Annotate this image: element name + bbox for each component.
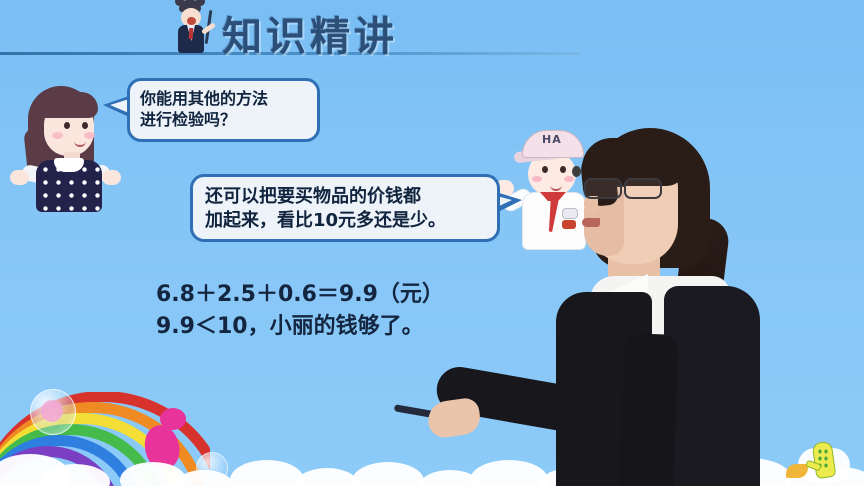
math-line-sum: 6.8＋2.5＋0.6＝9.9（元） [156,276,444,308]
speech-bubble-boy: 还可以把要买物品的价钱都 加起来，看比10元多还是少。 [190,174,500,242]
teacher-figure [556,126,864,486]
girl-eye-left [64,122,70,129]
professor-mascot-icon [163,0,221,56]
girl-blush-right [84,132,95,139]
girl-blush-left [52,132,63,139]
cloud [296,468,358,486]
cloud [230,460,304,486]
teacher-glasses-icon [584,178,662,196]
teacher-cardigan-right [664,286,760,486]
boy-blush-left [532,176,542,182]
teacher-glasses-lens-right [624,178,662,199]
girl-hand-left [10,170,29,185]
girl-hand-right [102,170,121,185]
teacher-cardigan-front [619,333,678,486]
bubble-boy-line-2: 加起来，看比10元多还是少。 [205,209,485,233]
slide-canvas: 知识精讲 HA [0,0,864,486]
math-line-conclusion: 9.9＜10，小丽的钱够了。 [156,308,424,340]
cloud [352,462,424,486]
bubble-boy-line-1: 还可以把要买物品的价钱都 [205,185,485,209]
bubble-girl-line-2: 进行检验吗？ [140,109,307,130]
soap-bubble-large [30,389,76,435]
teacher-glasses-lens-left [584,178,622,199]
speech-bubble-girl: 你能用其他的方法 进行检验吗？ [127,78,320,142]
girl-eye-right [82,122,88,129]
bubble-girl-line-1: 你能用其他的方法 [140,88,307,109]
mascot-mouth [187,17,196,25]
page-title: 知识精讲 [222,4,398,62]
boy-eye-left [542,166,548,173]
girl-fringe [40,92,98,118]
girl-collar [54,158,84,172]
cloud [470,460,548,486]
soap-bubble-flower [41,400,63,422]
teacher-mouth [582,218,600,227]
mascot-tie [189,28,194,39]
